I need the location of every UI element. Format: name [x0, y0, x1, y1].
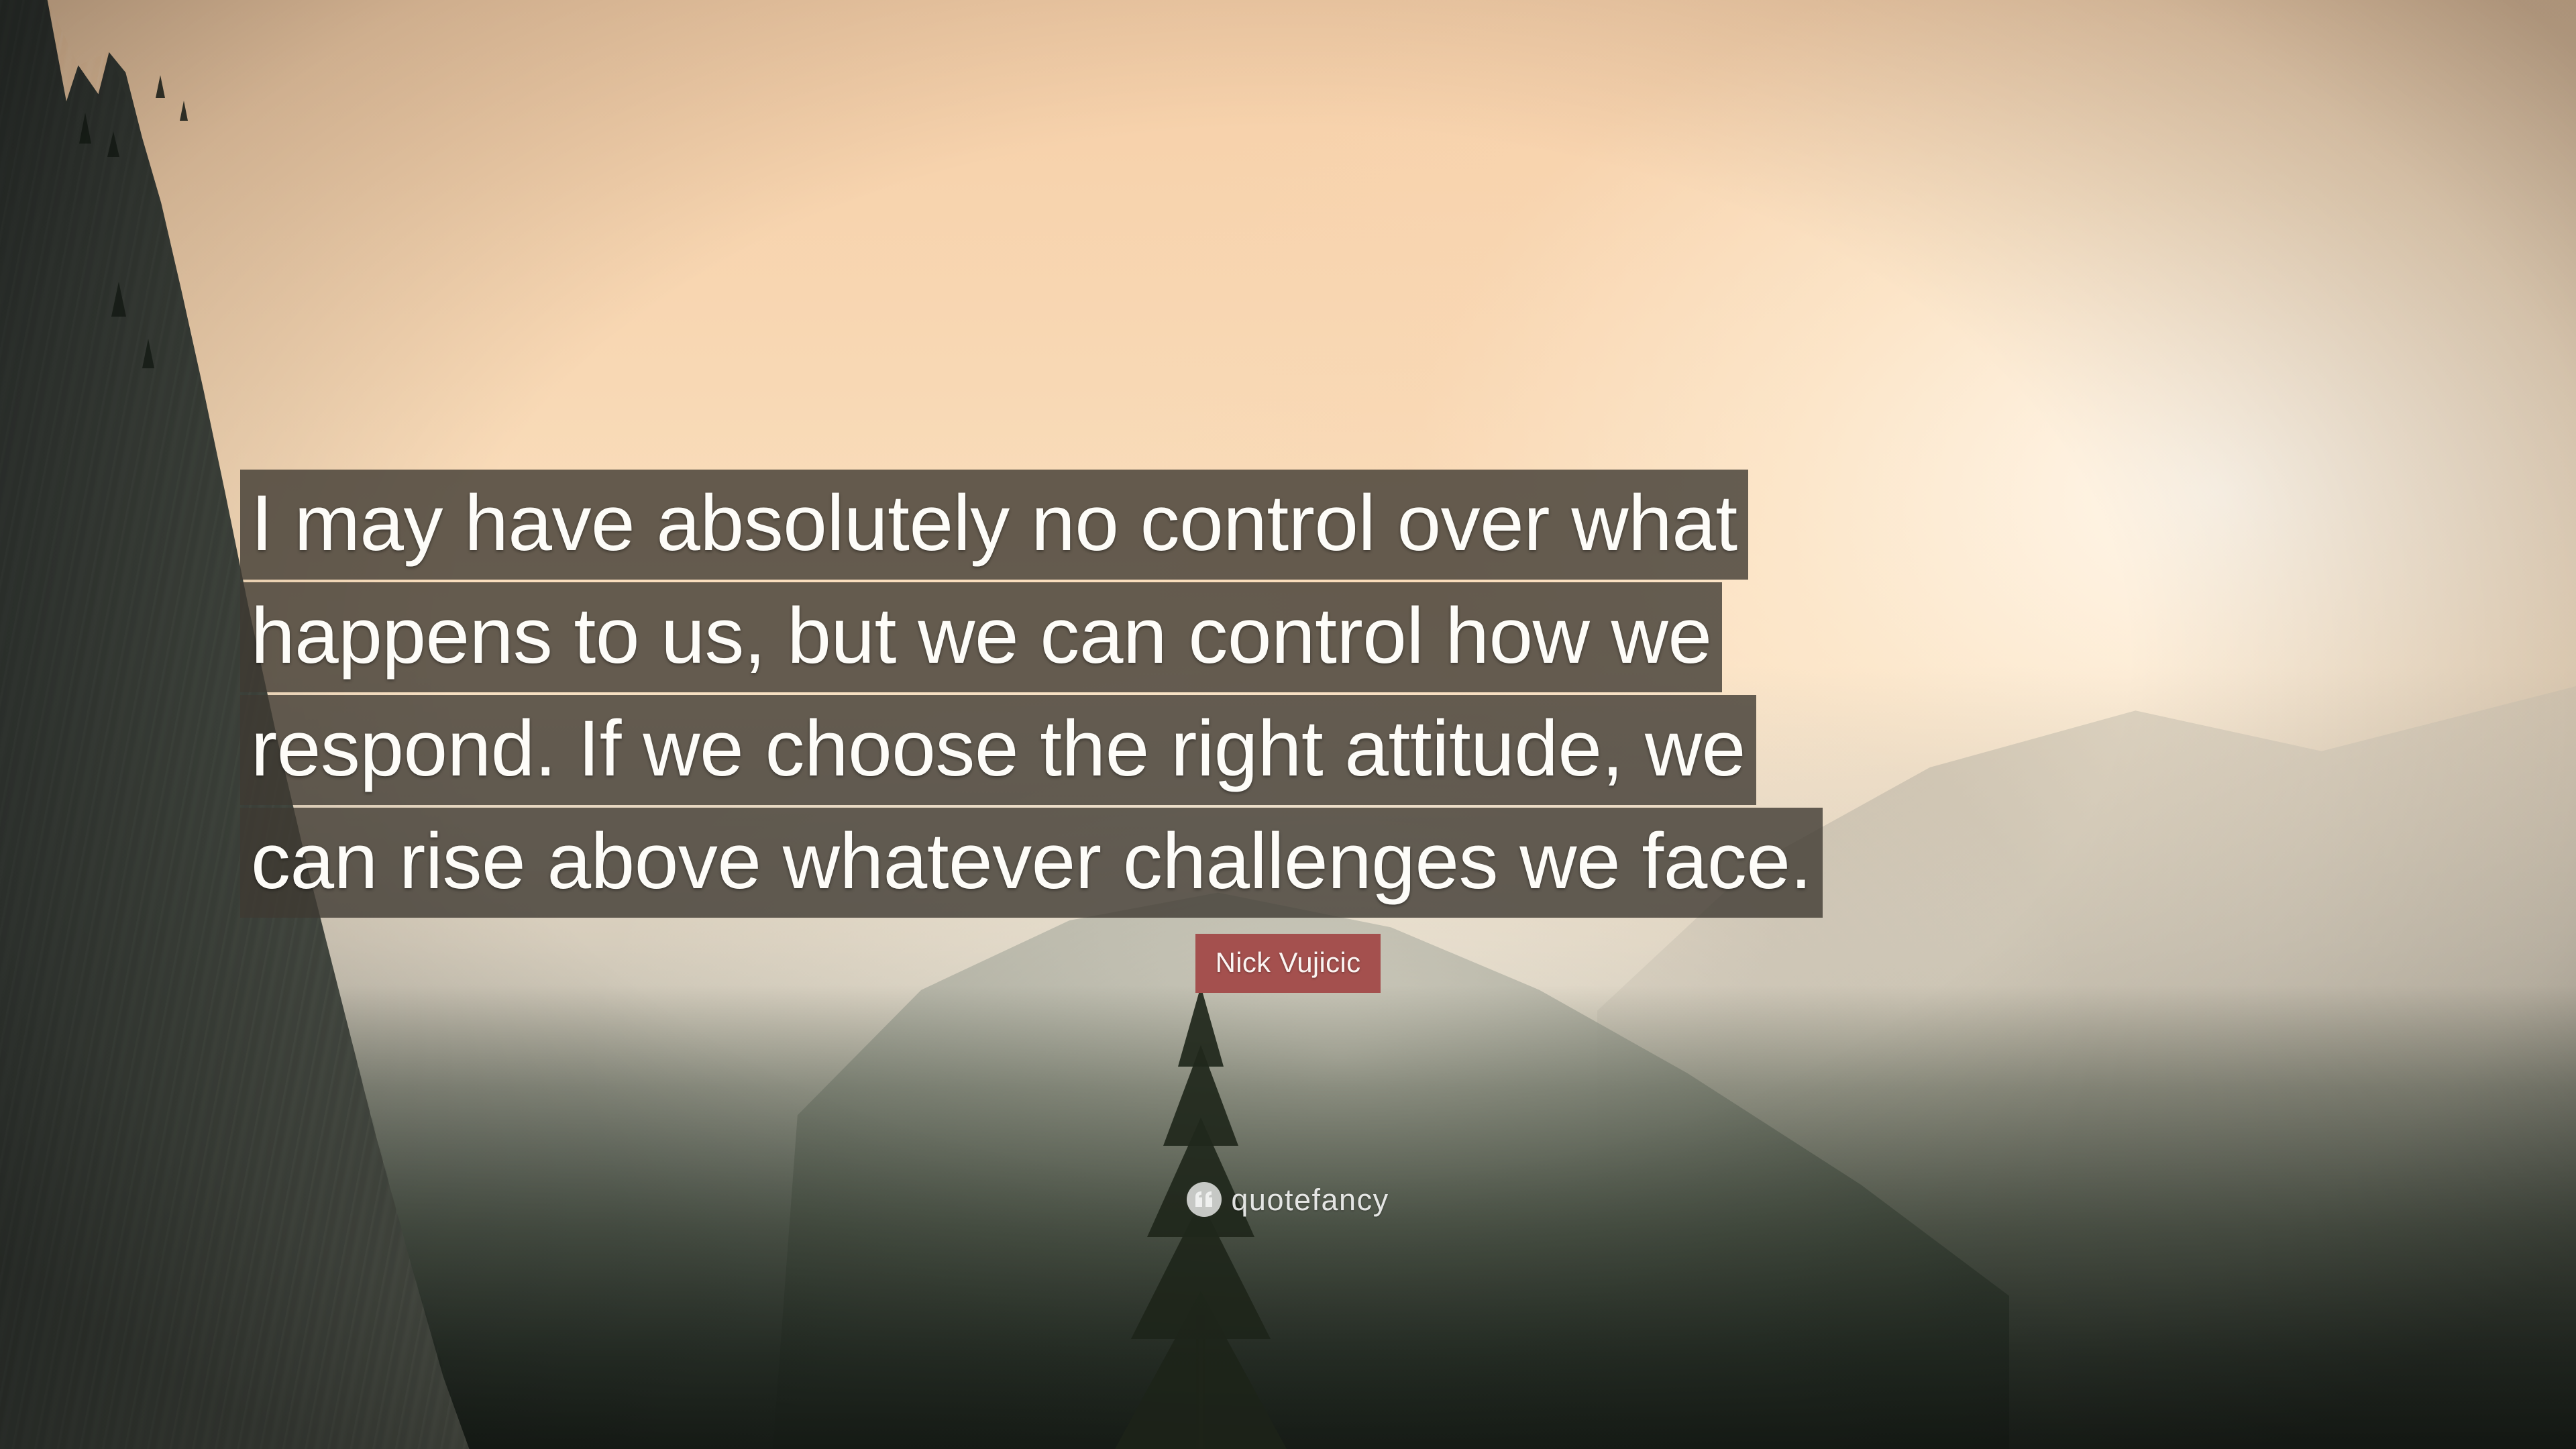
- quotefancy-watermark[interactable]: quotefancy: [0, 1182, 2576, 1217]
- quote-mark-icon: [1187, 1182, 1222, 1217]
- quotefancy-wordmark: quotefancy: [1231, 1185, 1389, 1215]
- quote-line: can rise above whatever challenges we fa…: [240, 808, 1823, 918]
- quote-text-block: I may have absolutely no control over wh…: [240, 470, 2194, 920]
- quote-line: I may have absolutely no control over wh…: [240, 470, 1748, 580]
- quote-poster: I may have absolutely no control over wh…: [0, 0, 2576, 1449]
- attribution: Nick Vujicic: [0, 934, 2576, 993]
- quote-line: happens to us, but we can control how we: [240, 582, 1722, 692]
- author-badge[interactable]: Nick Vujicic: [1195, 934, 1381, 993]
- quote-line: respond. If we choose the right attitude…: [240, 695, 1756, 805]
